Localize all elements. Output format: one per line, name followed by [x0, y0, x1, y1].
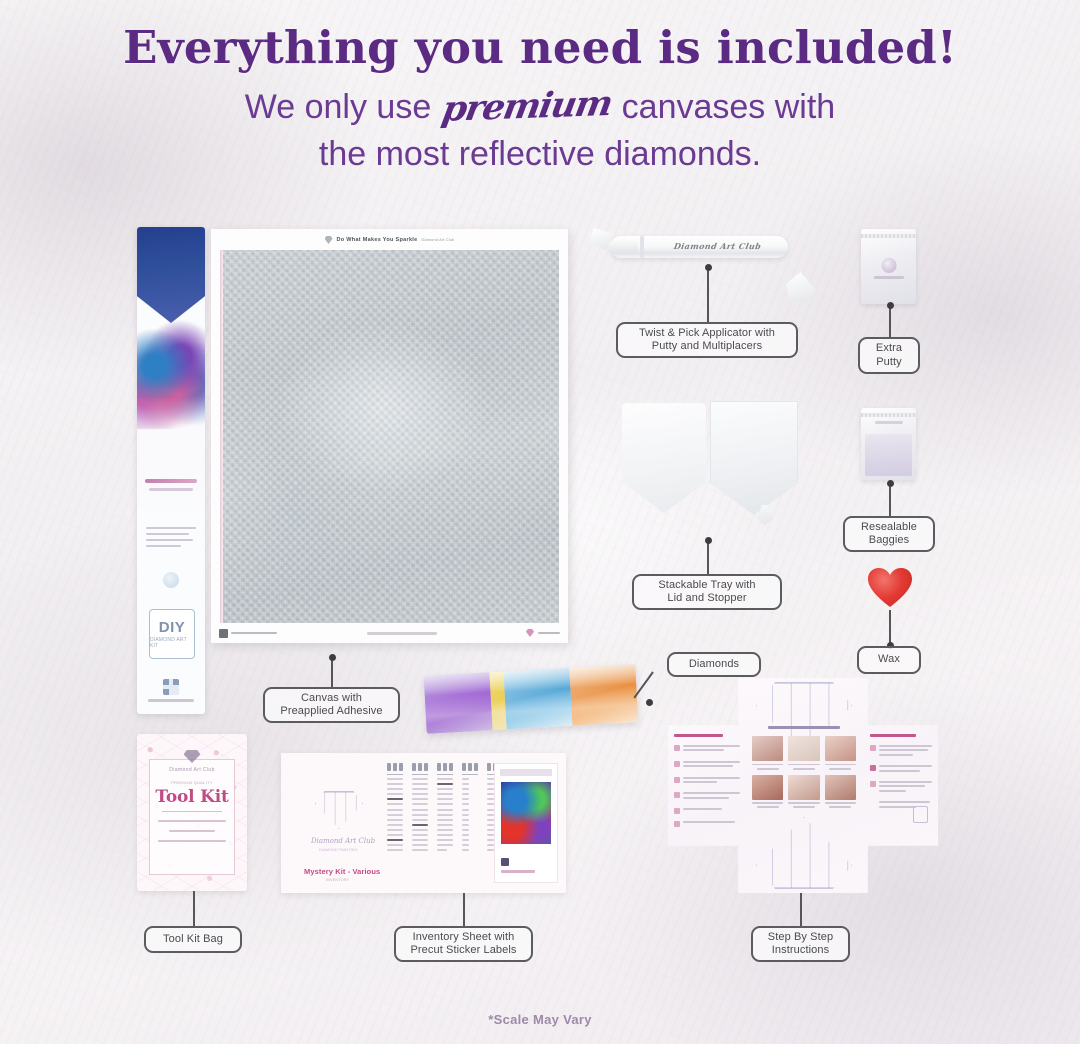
canvas-header: Do What Makes You Sparkle Diamond Art Cl…	[211, 229, 568, 251]
instruction-step	[674, 821, 740, 827]
leader-dot-diamonds	[646, 699, 653, 706]
canvas-footer-diamond-icon	[526, 629, 534, 637]
inventory-title-sub: INVENTORY	[326, 877, 349, 882]
applicator-brand-text: Diamond Art Club	[673, 241, 762, 251]
instruction-step	[674, 761, 740, 770]
tool-kit-line	[158, 840, 226, 842]
baggie-zip-seal	[861, 234, 916, 238]
sticker-column	[387, 763, 403, 885]
callout-baggies: Resealable Baggies	[843, 516, 935, 552]
tool-kit-line	[169, 830, 215, 832]
leader-line-inventory	[463, 893, 465, 926]
tool-kit-bag: Diamond Art Club PREMIUM QUALITY Tool Ki…	[137, 734, 247, 891]
leader-line-extra-putty	[889, 305, 891, 337]
sticker-column-rule	[412, 774, 428, 775]
putty-label-text	[874, 276, 904, 279]
sticker-column-rule	[387, 774, 403, 775]
baggie-label-text	[875, 421, 903, 424]
package-brand-bar	[145, 479, 197, 483]
sticker-column	[437, 763, 453, 885]
inventory-brand-sub: DIAMOND PAINTING	[319, 847, 358, 852]
tool-kit-divider	[162, 811, 222, 812]
leader-line-applicator	[707, 267, 709, 322]
step-photo	[752, 736, 783, 761]
sparkle-icon	[163, 572, 179, 588]
step-photo	[788, 736, 819, 761]
diamond-bag-orange	[569, 664, 638, 726]
inventory-title: Mystery Kit - Various	[304, 867, 380, 876]
canvas-footer-right-text	[538, 632, 560, 635]
package-body-text	[146, 527, 196, 551]
diy-badge-title: DIY	[159, 620, 186, 635]
sticker-column-header	[412, 763, 428, 771]
canvas-printed-art	[220, 250, 559, 623]
page-title: Everything you need is included!	[0, 24, 1080, 73]
package-brand-subbar	[149, 488, 193, 491]
package-footer-bar	[148, 699, 194, 702]
page-subtitle: We only use premium canvases with the mo…	[0, 83, 1080, 178]
diy-badge: DIY DIAMOND ART KIT	[149, 609, 195, 659]
leader-line-instructions	[800, 893, 802, 926]
diamond-drill-bags	[424, 664, 639, 734]
package-artwork-fade	[137, 397, 205, 522]
sticker-label-columns	[387, 763, 490, 885]
preview-header-text	[500, 769, 552, 776]
sticker-column-rule	[437, 774, 453, 775]
canvas-brand: Diamond Art Club	[422, 238, 455, 242]
inventory-brand: Diamond Art Club	[311, 837, 375, 845]
subtitle-part-1: We only use	[245, 88, 431, 126]
instruction-panel-right	[870, 734, 932, 817]
callout-canvas: Canvas with Preapplied Adhesive	[263, 687, 400, 723]
instruction-step	[674, 808, 740, 814]
leader-line-tool-kit	[193, 891, 195, 926]
diy-badge-subtitle: DIAMOND ART KIT	[150, 637, 194, 649]
instruction-badge-icon	[913, 806, 928, 823]
instruction-step	[674, 792, 740, 801]
canvas-adhesive-edge	[220, 250, 223, 623]
instruction-photo-guide	[752, 726, 856, 808]
tool-kit-label-card: Diamond Art Club PREMIUM QUALITY Tool Ki…	[149, 759, 235, 875]
sticker-column	[412, 763, 428, 885]
step-photo	[788, 775, 819, 800]
photo-grid	[752, 736, 856, 808]
instruction-step	[674, 745, 740, 754]
canvas-footer-center-text	[367, 632, 437, 635]
heading-block: Everything you need is included! We only…	[0, 24, 1080, 178]
applicator-nib	[608, 240, 638, 254]
tool-kit-line	[158, 820, 226, 822]
canvas-footer-text	[231, 632, 277, 635]
diamond-painting-canvas: Do What Makes You Sparkle Diamond Art Cl…	[211, 229, 568, 643]
extra-putty-baggie	[861, 229, 916, 304]
twist-pick-applicator-pen: Diamond Art Club	[610, 236, 788, 258]
instruction-tip	[870, 765, 932, 774]
sticker-column	[462, 763, 478, 885]
baggie-contents	[865, 434, 912, 476]
callout-diamonds: Diamonds	[667, 652, 761, 677]
instruction-tip	[870, 745, 932, 758]
preview-color-swatch	[501, 858, 509, 866]
product-package-tube: DIY DIAMOND ART KIT	[137, 227, 205, 714]
diamond-bag-purple	[424, 672, 493, 734]
photo-step	[752, 775, 783, 809]
instruction-tip	[870, 781, 932, 794]
canvas-logo-icon	[219, 629, 228, 638]
callout-tool-kit-bag: Tool Kit Bag	[144, 926, 242, 953]
callout-inventory: Inventory Sheet with Precut Sticker Labe…	[394, 926, 533, 962]
diamond-icon	[325, 236, 333, 244]
canvas-tagline: Do What Makes You Sparkle	[337, 237, 418, 243]
sticker-column-header	[387, 763, 403, 771]
package-artwork	[137, 227, 205, 517]
leader-line-tray	[707, 540, 709, 574]
photo-step	[788, 775, 819, 809]
callout-tray: Stackable Tray with Lid and Stopper	[632, 574, 782, 610]
instruction-panel-left	[674, 734, 740, 834]
sticker-column-rule	[462, 774, 478, 775]
callout-applicator: Twist & Pick Applicator with Putty and M…	[616, 322, 798, 358]
callout-instructions: Step By Step Instructions	[751, 926, 850, 962]
step-photo	[825, 775, 856, 800]
putty-logo-icon	[881, 258, 896, 273]
preview-artwork-thumbnail	[501, 782, 551, 844]
subtitle-script-word: premium	[436, 80, 617, 134]
sticker-column-header	[437, 763, 453, 771]
baggie-zip-seal	[861, 413, 916, 417]
tool-kit-eyebrow: PREMIUM QUALITY	[171, 780, 213, 785]
subtitle-line-2: the most reflective diamonds.	[319, 135, 761, 173]
photo-step	[788, 736, 819, 770]
diamond-icon	[184, 750, 201, 763]
panel-heading	[870, 734, 916, 737]
qr-code-icon	[163, 679, 179, 695]
scale-disclaimer: *Scale May Vary	[0, 1012, 1080, 1027]
canvas-footer-left	[219, 629, 277, 638]
subtitle-part-2: canvases with	[622, 88, 836, 126]
leader-line-baggies	[889, 483, 891, 516]
diamond-bag-blue	[503, 668, 572, 730]
photo-step	[825, 736, 856, 770]
applicator-band	[640, 236, 644, 258]
tool-kit-title: Tool Kit	[155, 787, 228, 807]
canvas-footer	[211, 623, 568, 643]
instruction-step	[674, 777, 740, 786]
callout-wax: Wax	[857, 646, 921, 674]
resealable-baggie	[861, 408, 916, 480]
inventory-sheet: Diamond Art Club DIAMOND PAINTING Myster…	[281, 753, 566, 893]
step-photo	[825, 736, 856, 761]
wax-heart	[868, 568, 912, 608]
photo-step	[752, 736, 783, 770]
leader-line-canvas	[331, 657, 333, 687]
callout-extra-putty: Extra Putty	[858, 337, 920, 374]
photo-guide-heading	[768, 726, 841, 729]
step-by-step-instruction-sheet	[668, 678, 938, 893]
step-photo	[752, 775, 783, 800]
panel-heading	[674, 734, 723, 737]
photo-step	[825, 775, 856, 809]
heart-icon	[868, 568, 912, 608]
sticker-column-header	[462, 763, 478, 771]
leader-line-wax	[889, 610, 891, 646]
tool-kit-brand: Diamond Art Club	[169, 767, 215, 773]
artwork-preview-card	[494, 763, 558, 883]
preview-caption-text	[501, 870, 535, 873]
diamond-icon	[315, 791, 363, 829]
